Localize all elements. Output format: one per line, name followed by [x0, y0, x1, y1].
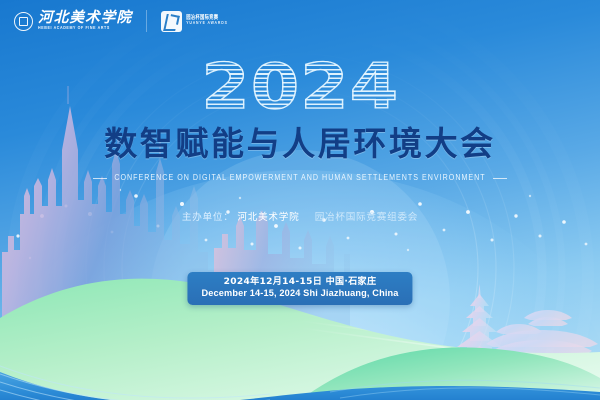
page-title: 数智赋能与人居环境大会: [0, 126, 600, 163]
date-badge: 2024年12月14-15日 中国·石家庄 December 14-15, 20…: [187, 272, 412, 305]
subtitle-rule-left: [93, 178, 107, 179]
subtitle-en: CONFERENCE ON DIGITAL EMPOWERMENT AND HU…: [114, 174, 485, 183]
academy-logo[interactable]: 河北美术学院 HEBEI ACADEMY OF FINE ARTS: [14, 11, 132, 30]
scenery: [0, 0, 600, 400]
yuanye-cup-mark-icon: [161, 11, 182, 32]
competition-logo[interactable]: 园冶杯国际竞赛 YUANYE AWARDS: [161, 11, 228, 32]
organizer-name-1: 河北美术学院: [237, 212, 299, 223]
academy-name-en: HEBEI ACADEMY OF FINE ARTS: [38, 27, 132, 31]
circular-seal-icon: [14, 12, 33, 31]
date-line-cn: 2024年12月14-15日 中国·石家庄: [201, 276, 398, 288]
date-line-en: December 14-15, 2024 Shi Jiazhuang, Chin…: [201, 288, 398, 300]
organizer-label: 主办单位：: [182, 212, 234, 223]
subtitle-row: CONFERENCE ON DIGITAL EMPOWERMENT AND HU…: [0, 174, 600, 182]
academy-name-cn: 河北美术学院: [38, 11, 132, 26]
logo-divider: [146, 10, 147, 32]
competition-name-en: YUANYE AWARDS: [186, 22, 228, 27]
organizer-line: 主办单位： 河北美术学院 园冶杯国际竞赛组委会: [0, 209, 600, 223]
conference-poster: 河北美术学院 HEBEI ACADEMY OF FINE ARTS 园冶杯国际竞…: [0, 0, 600, 400]
organizer-name-2: 园冶杯国际竞赛组委会: [315, 212, 418, 223]
header-logos: 河北美术学院 HEBEI ACADEMY OF FINE ARTS 园冶杯国际竞…: [14, 10, 228, 32]
subtitle-rule-right: [493, 178, 507, 179]
